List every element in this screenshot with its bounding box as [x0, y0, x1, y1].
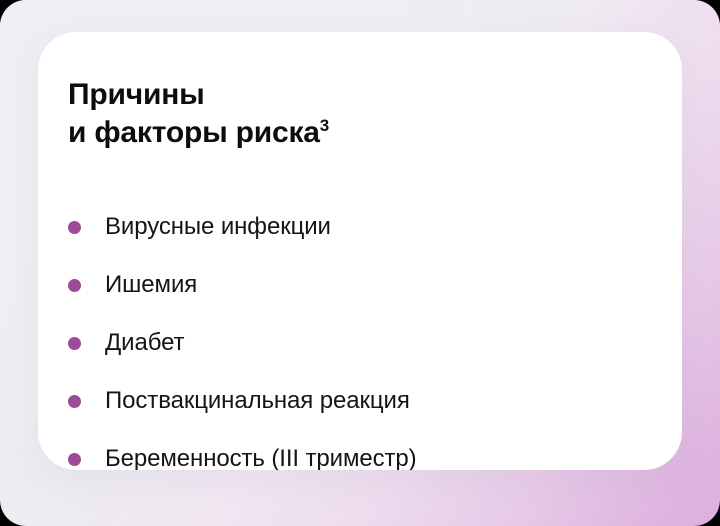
list-item: Беременность (III триместр) [68, 430, 662, 470]
bullet-dot-icon [68, 453, 81, 466]
list-item-label: Поствакцинальная реакция [105, 386, 410, 416]
bullet-dot-icon [68, 279, 81, 292]
content-card: Причиныи факторы риска3 Вирусные инфекци… [38, 32, 682, 470]
list-item-label: Ишемия [105, 270, 197, 300]
list-item-label: Беременность (III триместр) [105, 444, 417, 470]
slide-background: Причиныи факторы риска3 Вирусные инфекци… [0, 0, 720, 526]
card-content: Причиныи факторы риска3 Вирусные инфекци… [68, 32, 662, 470]
title-line-1: Причины [68, 78, 205, 111]
list-item-label: Вирусные инфекции [105, 212, 331, 242]
list-item-label: Диабет [105, 328, 184, 358]
list-item: Ишемия [68, 256, 662, 314]
bullet-dot-icon [68, 395, 81, 408]
bullet-dot-icon [68, 337, 81, 350]
list-item: Вирусные инфекции [68, 198, 662, 256]
list-item: Диабет [68, 314, 662, 372]
title-line-2: и факторы риска [68, 116, 320, 149]
page-title: Причиныи факторы риска3 [68, 76, 329, 152]
risk-factor-list: Вирусные инфекции Ишемия Диабет Поствакц… [68, 198, 662, 470]
list-item: Поствакцинальная реакция [68, 372, 662, 430]
title-superscript-reference: 3 [320, 116, 329, 135]
bullet-dot-icon [68, 221, 81, 234]
